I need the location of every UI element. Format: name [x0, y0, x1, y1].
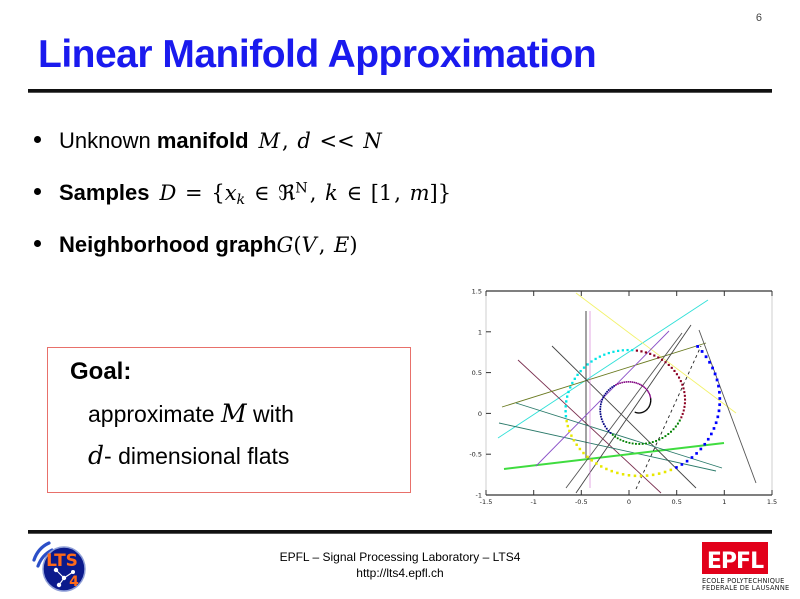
- svg-text:0: 0: [627, 498, 631, 506]
- goal-line-approximate: approximate M with: [88, 399, 294, 428]
- bullet-lead-bold: manifold: [157, 128, 249, 153]
- spiral-manifold-plot: -1.5 -1 -0.5 0 0.5 1 1.5 1.5 1 0.5 0 -0.…: [456, 283, 778, 511]
- svg-text:EPFL: EPFL: [707, 549, 764, 574]
- goal-line1-before: approximate: [88, 401, 221, 427]
- formula-samples: D = {xk ∈ ℜN, k ∈ [1, m]}: [160, 181, 452, 205]
- footer-line-2[interactable]: http://lts4.epfl.ch: [0, 565, 800, 581]
- goal-line1-after: with: [247, 401, 294, 427]
- formula-graph: G(V, E): [277, 233, 358, 257]
- bullet-text-samples: SamplesD = {xk ∈ ℜN, k ∈ [1, m]}: [59, 180, 451, 208]
- svg-text:4: 4: [69, 574, 79, 590]
- bullet-text-unknown-manifold: Unknown manifoldM, d << N: [59, 128, 382, 154]
- svg-text:FEDERALE DE LAUSANNE: FEDERALE DE LAUSANNE: [702, 584, 789, 592]
- goal-math-d: d: [88, 441, 104, 470]
- footer-divider: [28, 530, 772, 534]
- list-item: SamplesD = {xk ∈ ℜN, k ∈ [1, m]}: [34, 180, 504, 212]
- goal-line2-after: - dimensional flats: [104, 443, 289, 469]
- svg-text:-0.5: -0.5: [469, 451, 482, 459]
- goal-math-M: M: [221, 399, 247, 428]
- svg-text:1.5: 1.5: [472, 288, 482, 296]
- svg-text:-1: -1: [530, 498, 536, 506]
- svg-text:1.5: 1.5: [767, 498, 777, 506]
- footer-line-1: EPFL – Signal Processing Laboratory – LT…: [0, 549, 800, 565]
- epfl-logo: EPFL ECOLE POLYTECHNIQUE FEDERALE DE LAU…: [697, 540, 793, 592]
- bullet-text-neighborhood-graph: Neighborhood graphG(V, E): [59, 232, 358, 258]
- page-title: Linear Manifold Approximation: [38, 33, 596, 77]
- list-item: Neighborhood graphG(V, E): [34, 232, 504, 264]
- formula-manifold: M, d << N: [259, 129, 382, 153]
- bullet-lead-bold: Samples: [59, 180, 150, 205]
- list-item: Unknown manifoldM, d << N: [34, 128, 504, 160]
- svg-text:0.5: 0.5: [672, 498, 682, 506]
- svg-text:1: 1: [722, 498, 726, 506]
- bullet-dot-icon: [34, 188, 41, 195]
- bullet-lead-plain: Unknown: [59, 128, 157, 153]
- goal-heading: Goal:: [70, 358, 131, 386]
- svg-text:LTS: LTS: [46, 551, 78, 571]
- bullet-lead-bold: Neighborhood graph: [59, 232, 277, 257]
- svg-text:-0.5: -0.5: [575, 498, 588, 506]
- bullet-dot-icon: [34, 136, 41, 143]
- svg-text:0.5: 0.5: [472, 369, 482, 377]
- goal-box: Goal: approximate M with d- dimensional …: [47, 347, 411, 493]
- footer-text: EPFL – Signal Processing Laboratory – LT…: [0, 549, 800, 581]
- lts4-logo: LTS 4: [30, 538, 92, 594]
- svg-text:0: 0: [478, 410, 482, 418]
- goal-line-dimensional-flats: d- dimensional flats: [88, 441, 289, 470]
- bullet-dot-icon: [34, 240, 41, 247]
- bullet-list: Unknown manifoldM, d << N SamplesD = {xk…: [34, 128, 504, 284]
- page-number: 6: [756, 12, 762, 24]
- title-divider: [28, 89, 772, 93]
- svg-text:1: 1: [478, 328, 482, 336]
- svg-text:-1: -1: [476, 492, 482, 500]
